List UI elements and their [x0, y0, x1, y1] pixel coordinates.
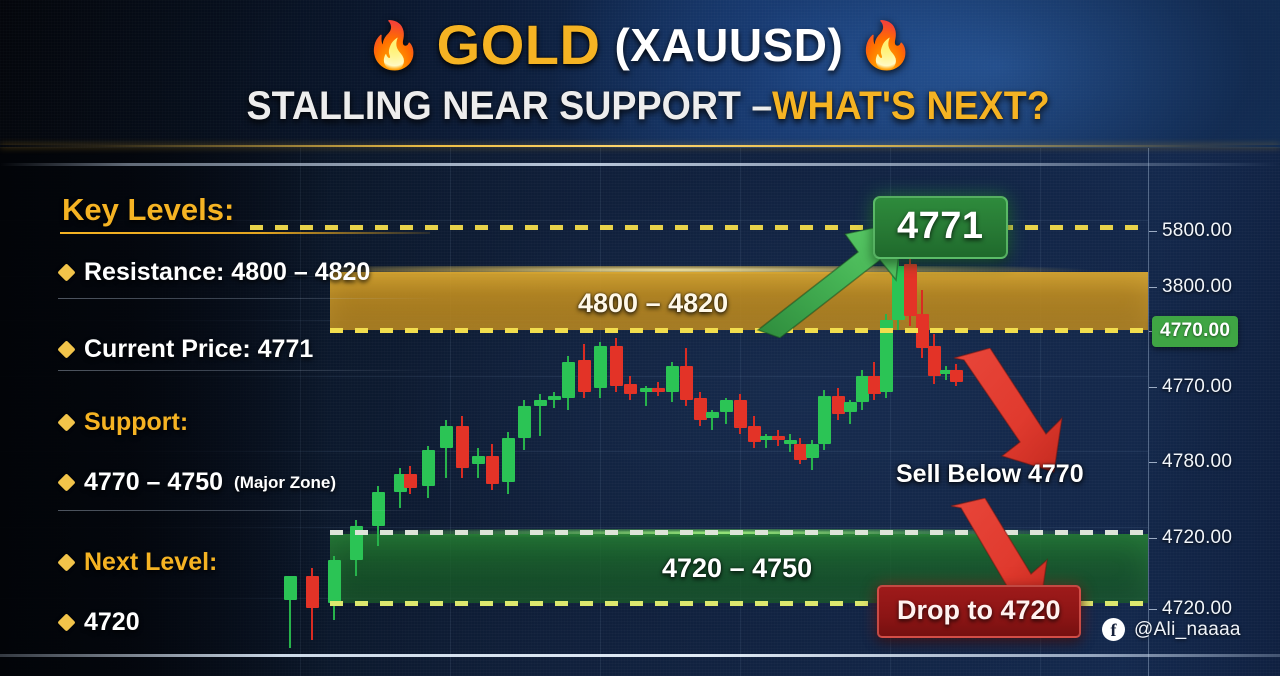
- resistance-zone-label: 4800 – 4820: [578, 288, 728, 319]
- level-line-resistance-lower-yellow: [330, 328, 1148, 333]
- list-divider: [58, 370, 438, 371]
- key-levels-panel: Key Levels: Resistance: 4800 – 4820Curre…: [0, 148, 430, 676]
- candle-body: [706, 412, 719, 418]
- axis-tick: [1149, 231, 1157, 232]
- candle-body: [440, 426, 453, 448]
- candlestick: [472, 448, 485, 478]
- key-level-label: Support:: [84, 408, 188, 437]
- level-line-support-upper-white: [330, 530, 1148, 535]
- current-price-badge: 4771: [873, 196, 1008, 259]
- facebook-icon: f: [1102, 618, 1125, 641]
- diamond-bullet-icon: [57, 263, 75, 281]
- fire-icon-left: 🔥: [365, 22, 422, 68]
- candlestick: [502, 432, 515, 494]
- key-level-label: Resistance: 4800 – 4820: [84, 258, 370, 287]
- candlestick: [680, 348, 693, 406]
- key-level-item: Current Price: 4771: [60, 335, 313, 364]
- diamond-bullet-icon: [57, 413, 75, 431]
- candle-body: [562, 362, 575, 398]
- watermark-handle: @Ali_naaaa: [1134, 619, 1241, 641]
- axis-tick: [1149, 387, 1157, 388]
- candle-body: [652, 388, 665, 392]
- candle-body: [720, 400, 733, 412]
- list-divider: [58, 298, 438, 299]
- key-level-item: Next Level:: [60, 548, 217, 577]
- candle-body: [680, 366, 693, 400]
- key-level-sublabel: (Major Zone): [234, 473, 336, 493]
- candlestick: [706, 410, 719, 430]
- axis-tick: [1149, 609, 1157, 610]
- axis-label: 4770.00: [1162, 376, 1232, 398]
- current-price-axis-badge: 4770.00: [1152, 316, 1238, 347]
- candlestick: [818, 390, 831, 450]
- candle-body: [594, 346, 607, 388]
- key-level-label: Next Level:: [84, 548, 217, 577]
- diamond-bullet-icon: [57, 613, 75, 631]
- candlestick: [518, 400, 531, 450]
- drop-target-badge: Drop to 4720: [877, 585, 1081, 638]
- axis-label: 5800.00: [1162, 220, 1232, 242]
- subtitle-white: STALLING NEAR SUPPORT –: [246, 84, 772, 129]
- infographic-root: 🔥 GOLD (XAUUSD) 🔥 STALLING NEAR SUPPORT …: [0, 0, 1280, 676]
- watermark: f @Ali_naaaa: [1102, 618, 1241, 641]
- candlestick: [720, 398, 733, 424]
- key-level-item: 4770 – 4750(Major Zone): [60, 468, 336, 497]
- candle-body: [578, 360, 591, 392]
- key-levels-title: Key Levels:: [62, 192, 234, 228]
- axis-label: 4780.00: [1162, 451, 1232, 473]
- candlestick: [652, 382, 665, 396]
- candle-body: [548, 396, 561, 400]
- candlestick: [562, 356, 575, 410]
- axis-tick: [1149, 462, 1157, 463]
- candlestick: [594, 342, 607, 398]
- title-row: 🔥 GOLD (XAUUSD) 🔥: [0, 12, 1280, 77]
- subtitle-gold: WHAT'S NEXT?: [772, 84, 1050, 129]
- axis-tick: [1149, 287, 1157, 288]
- fire-icon-right: 🔥: [857, 22, 914, 68]
- candle-body: [518, 406, 531, 438]
- diamond-bullet-icon: [57, 473, 75, 491]
- key-level-item: Support:: [60, 408, 188, 437]
- axis-tick: [1149, 538, 1157, 539]
- bearish-arrow-icon-1: [950, 348, 1070, 478]
- candle-body: [666, 366, 679, 392]
- candle-body: [818, 396, 831, 444]
- candlestick: [624, 376, 637, 400]
- candle-body: [456, 426, 469, 468]
- list-divider: [58, 510, 438, 511]
- candlestick: [534, 394, 547, 436]
- candle-body: [624, 384, 637, 394]
- candle-body: [734, 400, 747, 428]
- key-level-item: Resistance: 4800 – 4820: [60, 258, 370, 287]
- candle-body: [950, 370, 963, 382]
- key-level-label: Current Price: 4771: [84, 335, 313, 364]
- axis-label: 4720.00: [1162, 527, 1232, 549]
- price-axis-divider: [1148, 148, 1149, 676]
- key-levels-underline: [60, 232, 430, 234]
- key-level-label: 4770 – 4750: [84, 468, 223, 497]
- resistance-zone: [330, 272, 1148, 330]
- candlestick: [950, 364, 963, 386]
- support-zone-label: 4720 – 4750: [662, 553, 812, 584]
- header-gold-divider: [0, 145, 1280, 147]
- candle-body: [534, 400, 547, 406]
- diamond-bullet-icon: [57, 553, 75, 571]
- candle-wick: [553, 392, 555, 408]
- axis-label: 3800.00: [1162, 276, 1232, 298]
- sell-signal-label: Sell Below 4770: [896, 460, 1084, 489]
- key-level-item: 4720: [60, 608, 140, 637]
- candlestick: [548, 392, 561, 408]
- key-level-label: 4720: [84, 608, 140, 637]
- candlestick: [734, 394, 747, 434]
- subtitle-row: STALLING NEAR SUPPORT – WHAT'S NEXT?: [0, 84, 1280, 129]
- candle-body: [472, 456, 485, 464]
- candle-body: [486, 456, 499, 484]
- candlestick: [486, 444, 499, 490]
- candlestick: [440, 420, 453, 478]
- candlestick: [610, 338, 623, 392]
- axis-label: 4720.00: [1162, 598, 1232, 620]
- candlestick: [666, 362, 679, 402]
- diamond-bullet-icon: [57, 340, 75, 358]
- page-title-symbol: (XAUUSD): [614, 18, 843, 72]
- candlestick: [578, 344, 591, 398]
- candlestick: [456, 416, 469, 478]
- candle-body: [502, 438, 515, 482]
- candle-body: [610, 346, 623, 386]
- page-title-gold: GOLD: [437, 12, 601, 77]
